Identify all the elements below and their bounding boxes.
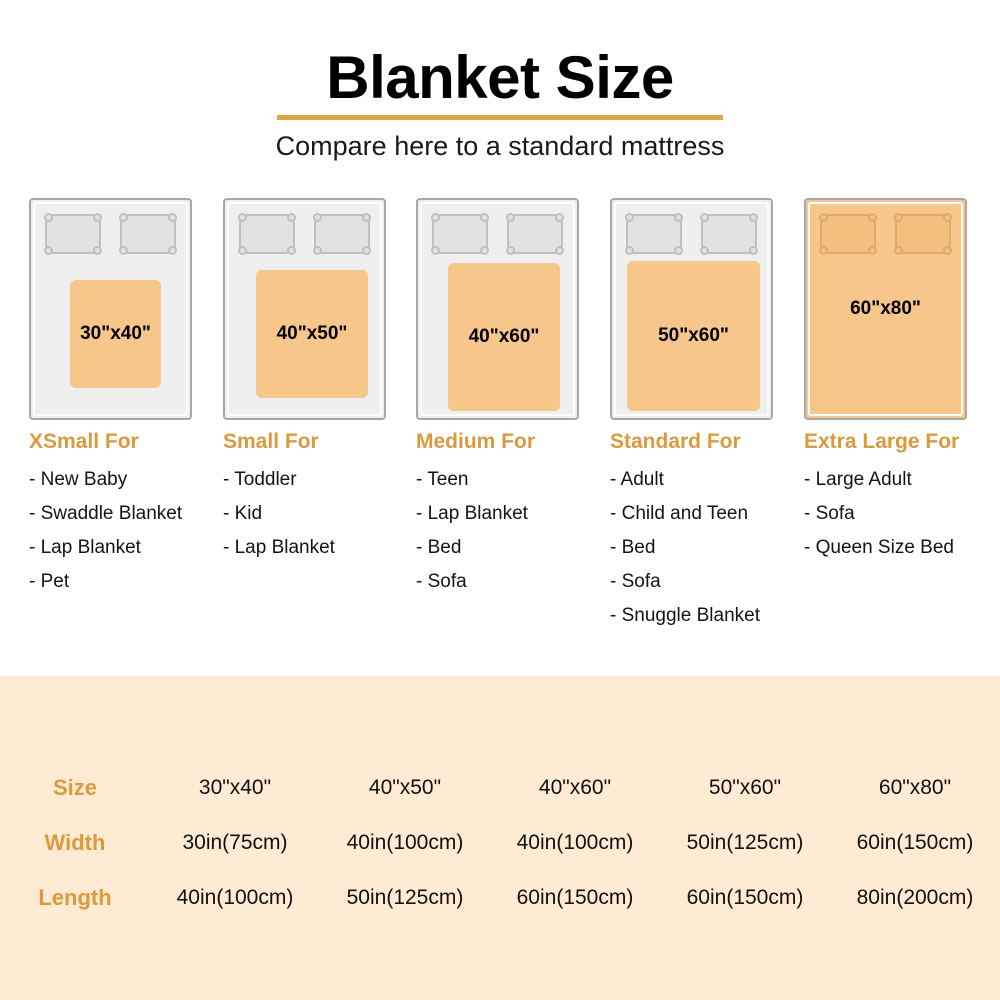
row-label-length: Length	[0, 870, 150, 925]
list-item: - Pet	[29, 565, 182, 599]
table-cell: 50in(125cm)	[320, 870, 490, 925]
category-list: - New Baby - Swaddle Blanket - Lap Blank…	[29, 463, 182, 599]
list-item: - Toddler	[223, 463, 335, 497]
list-item: - Lap Blanket	[29, 531, 182, 565]
blanket-swatch-label: 50"x60"	[627, 261, 760, 411]
bed-diagram-small: 40"x50"	[223, 198, 386, 420]
pillow-icon	[45, 214, 101, 254]
size-table: Size 30"x40" 40"x50" 40"x60" 50"x60" 60"…	[0, 760, 1000, 925]
list-item: - Lap Blanket	[416, 497, 535, 531]
category-title: Small For	[223, 430, 335, 454]
list-item: - Kid	[223, 497, 335, 531]
blanket-swatch-label: 60"x80"	[810, 204, 961, 414]
table-row-width: Width 30in(75cm) 40in(100cm) 40in(100cm)…	[0, 815, 1000, 870]
list-item: - Snuggle Blanket	[610, 599, 760, 633]
category-column-small: Small For - Toddler - Kid - Lap Blanket	[223, 430, 335, 565]
table-cell: 50"x60"	[660, 760, 830, 815]
blanket-swatch-label: 40"x60"	[448, 263, 560, 411]
category-title: XSmall For	[29, 430, 182, 454]
pillow-icon	[626, 214, 682, 254]
table-cell: 30"x40"	[150, 760, 320, 815]
category-list: - Adult - Child and Teen - Bed - Sofa - …	[610, 463, 760, 633]
category-title: Standard For	[610, 430, 760, 454]
category-list: - Large Adult - Sofa - Queen Size Bed	[804, 463, 959, 565]
list-item: - Child and Teen	[610, 497, 760, 531]
pillow-icon	[507, 214, 563, 254]
blanket-swatch-label: 30"x40"	[70, 280, 161, 388]
table-cell: 50in(125cm)	[660, 815, 830, 870]
size-table-band: Size 30"x40" 40"x50" 40"x60" 50"x60" 60"…	[0, 676, 1000, 1000]
list-item: - Large Adult	[804, 463, 959, 497]
table-cell: 60in(150cm)	[660, 870, 830, 925]
category-column-extra-large: Extra Large For - Large Adult - Sofa - Q…	[804, 430, 959, 565]
page-title: Blanket Size	[0, 46, 1000, 109]
table-cell: 40in(100cm)	[150, 870, 320, 925]
list-item: - Bed	[416, 531, 535, 565]
pillow-icon	[701, 214, 757, 254]
pillow-icon	[314, 214, 370, 254]
list-item: - Sofa	[804, 497, 959, 531]
blanket-swatch-label: 40"x50"	[256, 270, 368, 398]
category-list: - Toddler - Kid - Lap Blanket	[223, 463, 335, 565]
bed-diagram-extra-large: 60"x80"	[804, 198, 967, 420]
table-cell: 40"x60"	[490, 760, 660, 815]
list-item: - Sofa	[416, 565, 535, 599]
pillow-icon	[239, 214, 295, 254]
pillow-icon	[432, 214, 488, 254]
table-row-length: Length 40in(100cm) 50in(125cm) 60in(150c…	[0, 870, 1000, 925]
list-item: - Sofa	[610, 565, 760, 599]
table-cell: 80in(200cm)	[830, 870, 1000, 925]
category-column-xsmall: XSmall For - New Baby - Swaddle Blanket …	[29, 430, 182, 599]
list-item: - New Baby	[29, 463, 182, 497]
list-item: - Bed	[610, 531, 760, 565]
category-column-standard: Standard For - Adult - Child and Teen - …	[610, 430, 760, 633]
table-row-size: Size 30"x40" 40"x50" 40"x60" 50"x60" 60"…	[0, 760, 1000, 815]
table-cell: 40in(100cm)	[490, 815, 660, 870]
category-list: - Teen - Lap Blanket - Bed - Sofa	[416, 463, 535, 599]
page-subtitle: Compare here to a standard mattress	[0, 130, 1000, 162]
list-item: - Lap Blanket	[223, 531, 335, 565]
category-column-medium: Medium For - Teen - Lap Blanket - Bed - …	[416, 430, 535, 599]
table-cell: 40"x50"	[320, 760, 490, 815]
pillow-icon	[120, 214, 176, 254]
list-item: - Swaddle Blanket	[29, 497, 182, 531]
category-title: Extra Large For	[804, 430, 959, 454]
table-cell: 60"x80"	[830, 760, 1000, 815]
bed-diagrams-row: 30"x40" 40"x50" 40"x60" 50"x60" 60"x80"	[0, 198, 1000, 423]
category-title: Medium For	[416, 430, 535, 454]
table-cell: 40in(100cm)	[320, 815, 490, 870]
list-item: - Teen	[416, 463, 535, 497]
list-item: - Adult	[610, 463, 760, 497]
list-item: - Queen Size Bed	[804, 531, 959, 565]
title-underline-rule	[277, 115, 723, 120]
table-cell: 60in(150cm)	[830, 815, 1000, 870]
table-cell: 60in(150cm)	[490, 870, 660, 925]
bed-diagram-medium: 40"x60"	[416, 198, 579, 420]
row-label-width: Width	[0, 815, 150, 870]
row-label-size: Size	[0, 760, 150, 815]
bed-diagram-standard: 50"x60"	[610, 198, 773, 420]
header: Blanket Size Compare here to a standard …	[0, 0, 1000, 162]
bed-diagram-xsmall: 30"x40"	[29, 198, 192, 420]
table-cell: 30in(75cm)	[150, 815, 320, 870]
